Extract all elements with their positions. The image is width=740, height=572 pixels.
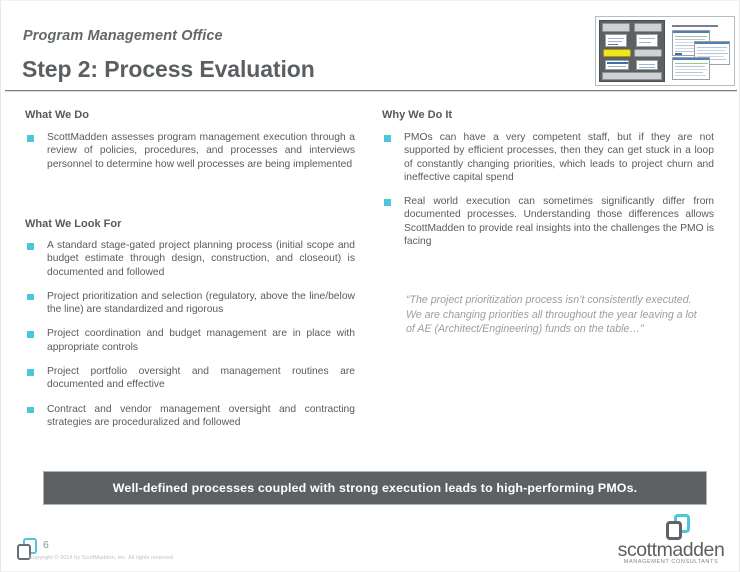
logo-square-grey-icon: [666, 521, 682, 540]
thumbnail-card: [636, 34, 658, 47]
thumbnail-sub-block: [602, 23, 630, 32]
square-bullet-icon: [27, 135, 34, 142]
thumbnail-sub-block: [634, 49, 662, 57]
bullet-list-what-we-look-for: A standard stage-gated project planning …: [25, 239, 355, 429]
square-bullet-icon: [27, 294, 34, 301]
list-item: Real world execution can sometimes signi…: [382, 195, 714, 248]
thumbnail-caption-line: [672, 25, 718, 27]
thumbnail-sub-block: [602, 72, 662, 80]
thumbnail-card: [605, 34, 627, 47]
key-takeaway-banner: Well-defined processes coupled with stro…: [43, 471, 707, 505]
list-item: A standard stage-gated project planning …: [25, 239, 355, 279]
thumbnail-highlight-arrow: [603, 49, 631, 57]
list-item-text: Project prioritization and selection (re…: [47, 291, 355, 315]
square-bullet-icon: [27, 369, 34, 376]
list-item-text: ScottMadden assesses program management …: [47, 132, 355, 170]
pull-quote: “The project prioritization process isn’…: [406, 293, 706, 337]
list-item-text: Project coordination and budget manageme…: [47, 328, 355, 352]
brand-tagline: MANAGEMENT CONSULTANTS: [606, 559, 736, 565]
page-number: 6: [43, 539, 49, 551]
thumbnail-sub-block: [634, 23, 662, 32]
thumbnail-document: [672, 57, 710, 80]
list-item-text: Project portfolio oversight and manageme…: [47, 366, 355, 390]
square-bullet-icon: [27, 331, 34, 338]
section-heading-what-we-look-for: What We Look For: [25, 218, 121, 230]
list-item: Project coordination and budget manageme…: [25, 327, 355, 354]
header-divider: [5, 90, 737, 92]
process-diagram-thumbnail-image: [595, 16, 735, 86]
list-item: Contract and vendor management oversight…: [25, 403, 355, 430]
banner-text: Well-defined processes coupled with stro…: [113, 481, 637, 495]
list-item: PMOs can have a very competent staff, bu…: [382, 131, 714, 184]
section-heading-why-we-do-it: Why We Do It: [382, 109, 452, 121]
list-item: ScottMadden assesses program management …: [25, 131, 355, 171]
slide-canvas: Program Management Office Step 2: Proces…: [0, 0, 740, 572]
list-item-text: A standard stage-gated project planning …: [47, 240, 355, 278]
square-bullet-icon: [384, 199, 391, 206]
square-bullet-icon: [384, 135, 391, 142]
list-item: Project prioritization and selection (re…: [25, 290, 355, 317]
list-item: Project portfolio oversight and manageme…: [25, 365, 355, 392]
section-heading-what-we-do: What We Do: [25, 109, 89, 121]
bullet-list-what-we-do: ScottMadden assesses program management …: [25, 131, 355, 171]
list-item-text: Contract and vendor management oversight…: [47, 404, 355, 428]
slide-header: Program Management Office Step 2: Proces…: [1, 1, 740, 93]
thumbnail-card: [605, 60, 629, 70]
list-item-text: Real world execution can sometimes signi…: [404, 196, 714, 247]
square-bullet-icon: [27, 243, 34, 250]
square-bullet-icon: [27, 407, 34, 414]
scottmadden-logo: scottmadden MANAGEMENT CONSULTANTS: [606, 513, 736, 565]
bullet-list-why-we-do-it: PMOs can have a very competent staff, bu…: [382, 131, 714, 248]
copyright-text: Copyright © 2014 by ScottMadden, Inc. Al…: [29, 555, 174, 561]
thumbnail-card: [636, 60, 658, 70]
page-title: Step 2: Process Evaluation: [22, 56, 315, 83]
eyebrow-text: Program Management Office: [23, 28, 223, 44]
list-item-text: PMOs can have a very competent staff, bu…: [404, 132, 714, 183]
